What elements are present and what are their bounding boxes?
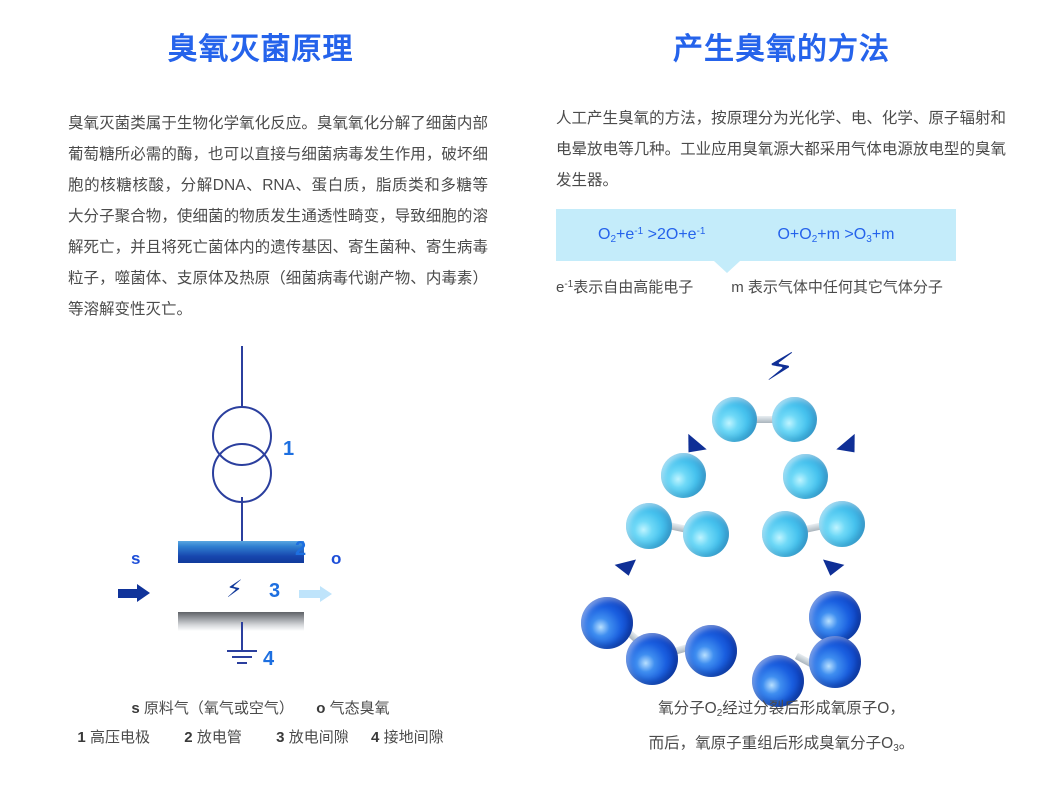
gas-outlet-label: o (331, 549, 341, 569)
f1-rhs-sup: -1 (697, 226, 706, 237)
legend-key-3: 3 (276, 729, 284, 746)
legend-text-3: 放电间隙 (289, 729, 349, 746)
atom-left-o3-c (685, 625, 737, 677)
legend-text-s: 原料气（氧气或空气） (144, 700, 294, 717)
electric-discharge-bolt-icon: ⚡ (765, 349, 796, 387)
diagram-number-3: 3 (269, 580, 280, 603)
f2-rhs: O (854, 226, 866, 243)
legend-key-o: o (316, 700, 325, 717)
atom-right-o2-b (819, 501, 865, 547)
legend-key-4: 4 (371, 729, 379, 746)
diagram-number-2: 2 (295, 538, 306, 561)
atom-free-oxygen-right (783, 454, 828, 499)
ground-wire (241, 622, 243, 652)
legend-key-1: 1 (77, 729, 85, 746)
diagram-number-1: 1 (283, 438, 294, 461)
f1-o: O (598, 226, 610, 243)
caption-l1-a: 氧分子O (658, 700, 717, 717)
diagram-number-4: 4 (263, 648, 274, 671)
legend-row-parts: 1 高压电极 2 放电管 3 放电间隙 4 接地间隙 (0, 726, 521, 747)
formula-box-pointer-icon (714, 261, 740, 273)
earth-ground-icon (225, 650, 259, 668)
formula-ozone-formation: O+O2+m >O3+m (777, 226, 894, 245)
formula-legend: e-1表示自由高能电子m 表示气体中任何其它气体分子 (556, 276, 943, 297)
atom-free-oxygen-left (661, 453, 706, 498)
molecule-reaction-diagram: ⚡ (521, 340, 1042, 690)
legend-key-2: 2 (184, 729, 192, 746)
legend-text-2: 放电管 (197, 729, 242, 746)
formula-oxygen-dissociation: O2+e-1 >2O+e-1 (598, 226, 705, 245)
split-arrow-right-icon (836, 434, 863, 460)
f2-lhs: O+O (777, 226, 811, 243)
recombine-arrow-right-icon (820, 560, 845, 579)
right-caption: 氧分子O2经过分裂后形成氧原子O， 而后，氧原子重组后形成臭氧分子O3。 (521, 694, 1042, 764)
top-wire (241, 346, 243, 408)
legend-e-desc: 表示自由高能电子 (573, 279, 693, 296)
f1-rhs: 2O+e (657, 226, 697, 243)
legend-row-gases: s 原料气（氧气或空气） o 气态臭氧 (0, 697, 521, 718)
right-section-title: 产生臭氧的方法 (521, 24, 1042, 68)
left-body-paragraph: 臭氧灭菌类属于生物化学氧化反应。臭氧氧化分解了细菌内部葡萄糖所必需的酶，也可以直… (68, 108, 488, 325)
reaction-formula-box: O2+e-1 >2O+e-1 O+O2+m >O3+m (556, 209, 956, 261)
atom-left-o2-a (626, 503, 672, 549)
atom-right-o3-b (809, 636, 861, 688)
middle-wire (241, 497, 243, 541)
caption-l2-a: 而后，氧原子重组后形成臭氧分子O (649, 735, 894, 752)
recombine-arrow-left-icon (615, 560, 640, 579)
legend-text-o: 气态臭氧 (330, 700, 390, 717)
legend-key-s: s (131, 700, 139, 717)
right-caption-line-1: 氧分子O2经过分裂后形成氧原子O， (521, 694, 1042, 729)
right-caption-line-2: 而后，氧原子重组后形成臭氧分子O3。 (521, 729, 1042, 764)
poster-root: 臭氧灭菌原理 臭氧灭菌类属于生物化学氧化反应。臭氧氧化分解了细菌内部葡萄糖所必需… (0, 0, 1042, 785)
legend-text-1: 高压电极 (90, 729, 150, 746)
atom-left-o3-a (581, 597, 633, 649)
legend-e-sup: -1 (564, 279, 573, 290)
f2-arrow: > (840, 226, 854, 243)
transformer-coil-lower-icon (212, 443, 272, 503)
f1-e-sup: -1 (634, 226, 643, 237)
legend-m-desc: m 表示气体中任何其它气体分子 (731, 279, 943, 296)
left-section-title: 臭氧灭菌原理 (0, 24, 521, 68)
atom-left-o2-b (683, 511, 729, 557)
ozone-generator-diagram: ⚡ (0, 340, 521, 690)
high-voltage-electrode-bar (178, 541, 304, 563)
caption-l2-b: 。 (899, 735, 915, 752)
atom-left-o3-b (626, 633, 678, 685)
discharge-spark-icon: ⚡ (226, 578, 243, 602)
right-body-paragraph: 人工产生臭氧的方法，按原理分为光化学、电、化学、原子辐射和电晕放电等几种。工业应… (556, 103, 1006, 196)
left-column: 臭氧灭菌原理 臭氧灭菌类属于生物化学氧化反应。臭氧氧化分解了细菌内部葡萄糖所必需… (0, 0, 521, 785)
caption-l1-b: 经过分裂后形成氧原子O， (722, 700, 905, 717)
atom-right-o2-a (762, 511, 808, 557)
f2-plus-m: +m (817, 226, 840, 243)
f1-arrow: > (643, 226, 657, 243)
gas-inlet-label: s (131, 549, 140, 569)
f2-rhs-tail: +m (872, 226, 895, 243)
f1-plus-e: +e (616, 226, 634, 243)
legend-text-4: 接地间隙 (384, 729, 444, 746)
atom-top-o2-left (712, 397, 757, 442)
atom-top-o2-right (772, 397, 817, 442)
